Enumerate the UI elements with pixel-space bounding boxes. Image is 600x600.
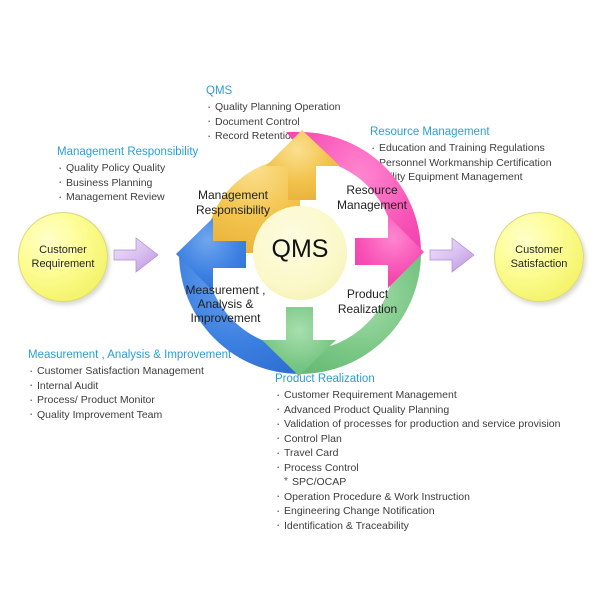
list-item: Process/ Product Monitor [28,393,231,408]
text-block-product-realization: Product Realization Customer Requirement… [275,372,560,533]
ring-center-hub [253,206,347,300]
endpoint-line-1: Customer [32,243,95,257]
list-item: Control Plan [275,432,560,447]
qms-cycle-ring [150,128,450,378]
list-item: Process Control [275,461,560,476]
list-item: Identification & Traceability [275,519,560,534]
list-item: Validation of processes for production a… [275,417,560,432]
block-title-qms: QMS [206,84,341,98]
list-item: Quality Improvement Team [28,408,231,423]
list-item: Travel Card [275,446,560,461]
diagram-canvas: QMS Quality Planning Operation Document … [0,0,600,600]
list-item: Operation Procedure & Work Instruction [275,490,560,505]
endpoint-line-1: Customer [511,243,568,257]
endpoint-line-2: Satisfaction [511,257,568,271]
block-list-product-realization: Customer Requirement Management Advanced… [275,388,560,533]
list-item: Customer Requirement Management [275,388,560,403]
arrow-right-icon-left [112,233,160,277]
endpoint-line-2: Requirement [32,257,95,271]
list-item: Internal Audit [28,379,231,394]
list-item: Quality Planning Operation [206,100,341,115]
list-item: Advanced Product Quality Planning [275,403,560,418]
endpoint-customer-satisfaction: Customer Satisfaction [494,212,584,302]
endpoint-customer-requirement: Customer Requirement [18,212,108,302]
list-item-sub: SPC/OCAP [275,475,560,490]
list-item: Engineering Change Notification [275,504,560,519]
arrow-right-icon-right [428,233,476,277]
list-item: Document Control [206,115,341,130]
